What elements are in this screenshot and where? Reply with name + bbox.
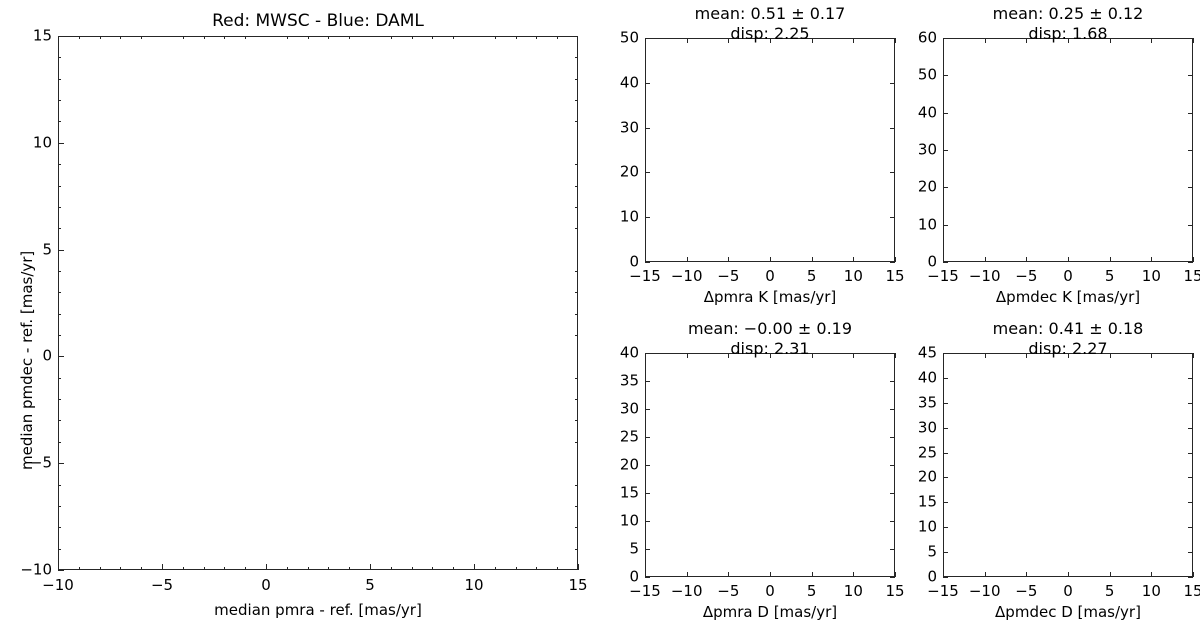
scatter-ytick-minor [575,79,578,80]
scatter-ytick-minor [575,399,578,400]
scatter-ytick-minor [575,186,578,187]
hist-xtick-label: −15 [927,584,959,599]
hist-ytick-right [890,217,895,218]
hist-ytick [943,150,948,151]
scatter-ytick-label: −10 [12,563,52,578]
hist-xtick-top [1068,353,1069,358]
scatter-xtick-minor [557,36,558,39]
scatter-ytick-minor [58,164,61,165]
hist-ytick [645,493,650,494]
hist-ytick-label: 20 [901,180,937,195]
hist-pmra-k-x-axis-label: Δpmra K [mas/yr] [645,288,895,306]
hist-xtick [895,257,896,262]
scatter-xtick-minor [495,36,496,39]
hist-ytick-right [1188,75,1193,76]
hist-pmra-d-panel [645,353,895,577]
scatter-xtick-minor [349,567,350,570]
hist-ytick-label: 50 [901,68,937,83]
hist-ytick [645,217,650,218]
hist-ytick-label: 35 [603,374,639,389]
scatter-xtick-minor [391,567,392,570]
hist-ytick [645,262,650,263]
scatter-xtick-minor [79,567,80,570]
hist-xtick [728,572,729,577]
scatter-xtick-minor [224,567,225,570]
scatter-ytick-minor [575,207,578,208]
scatter-ytick-minor [58,57,61,58]
hist-xtick-label: −5 [717,269,739,284]
hist-ytick [943,577,948,578]
scatter-ytick-minor [58,292,61,293]
hist-xtick [1110,572,1111,577]
hist-xtick-top [1193,38,1194,43]
hist-pmdec-d-axes-frame [943,353,1193,577]
scatter-xtick [578,564,579,570]
hist-ytick-label: 40 [901,105,937,120]
hist-xtick [985,572,986,577]
hist-xtick [1110,257,1111,262]
scatter-xtick [370,564,371,570]
hist-ytick [943,262,948,263]
hist-ytick-right [890,38,895,39]
hist-ytick-right [1188,353,1193,354]
hist-title-mean: mean: 0.41 ± 0.18 [993,319,1144,339]
hist-ytick [943,113,948,114]
hist-xtick-label: −10 [969,584,1001,599]
scatter-title: Red: MWSC - Blue: DAML [58,12,578,31]
hist-ytick-label: 40 [603,346,639,361]
hist-xtick-top [853,38,854,43]
scatter-xtick-minor [328,567,329,570]
hist-xtick-label: −15 [629,269,661,284]
hist-xtick [770,257,771,262]
hist-ytick [645,172,650,173]
scatter-ytick-minor [58,549,61,550]
hist-ytick [943,187,948,188]
scatter-xtick-minor [100,36,101,39]
hist-ytick [645,38,650,39]
hist-ytick-right [890,262,895,263]
hist-xtick [687,572,688,577]
hist-ytick [943,75,948,76]
hist-ytick-right [1188,225,1193,226]
hist-ytick-right [890,437,895,438]
hist-ytick-label: 30 [901,143,937,158]
scatter-ytick-minor [575,292,578,293]
scatter-ytick [58,36,64,37]
hist-ytick-label: 40 [603,75,639,90]
scatter-ytick-minor [575,378,578,379]
hist-xtick-label: 5 [807,269,817,284]
scatter-xtick-minor [141,567,142,570]
hist-xtick-label: 15 [885,269,904,284]
hist-ytick-right [890,172,895,173]
hist-ytick [943,38,948,39]
hist-xtick-top [728,38,729,43]
scatter-xtick-label: 15 [568,578,587,593]
hist-ytick [943,225,948,226]
scatter-panel [58,36,578,570]
figure-canvas: Red: MWSC - Blue: DAML median pmra - ref… [0,0,1200,629]
hist-ytick-right [890,353,895,354]
hist-xtick-label: −10 [671,269,703,284]
hist-xtick [812,257,813,262]
scatter-ytick [58,463,64,464]
scatter-xtick-minor [183,567,184,570]
hist-ytick [645,465,650,466]
hist-ytick-label: 40 [901,370,937,385]
hist-ytick-label: 0 [901,255,937,270]
hist-xtick [728,257,729,262]
hist-xtick-top [812,353,813,358]
scatter-ytick-minor [58,420,61,421]
hist-pmdec-k-panel [943,38,1193,262]
hist-xtick-label: 5 [1105,269,1115,284]
hist-ytick-right [1188,378,1193,379]
hist-ytick-right [1188,262,1193,263]
scatter-xtick-minor [536,567,537,570]
scatter-ytick-label: −5 [12,456,52,471]
scatter-xtick-minor [204,567,205,570]
scatter-xtick-minor [349,36,350,39]
scatter-xtick-label: 0 [261,578,271,593]
scatter-ytick-minor [58,186,61,187]
scatter-ytick-minor [575,228,578,229]
scatter-ytick-minor [575,442,578,443]
hist-title-mean: mean: 0.25 ± 0.12 [993,4,1144,24]
hist-xtick-label: −15 [927,269,959,284]
hist-xtick [985,257,986,262]
hist-ytick-label: 0 [603,255,639,270]
hist-xtick [853,572,854,577]
hist-xtick-label: 15 [1183,269,1200,284]
hist-ytick-label: 10 [603,514,639,529]
hist-ytick-right [1188,187,1193,188]
scatter-ytick-minor [58,378,61,379]
scatter-xtick [474,564,475,570]
scatter-ytick-minor [58,485,61,486]
hist-ytick-label: 30 [603,120,639,135]
hist-ytick [645,409,650,410]
hist-title-mean: mean: 0.51 ± 0.17 [695,4,846,24]
hist-xtick [812,572,813,577]
scatter-xtick-minor [516,567,517,570]
scatter-xtick-minor [120,36,121,39]
hist-pmra-k-panel [645,38,895,262]
hist-ytick [645,549,650,550]
scatter-ytick-label: 0 [12,349,52,364]
scatter-axes-frame [58,36,578,570]
scatter-ytick-label: 15 [12,29,52,44]
hist-ytick-right [1188,577,1193,578]
hist-pmra-k-axes-frame [645,38,895,262]
hist-xtick-label: −15 [629,584,661,599]
hist-ytick-label: 10 [901,520,937,535]
scatter-xtick-minor [100,567,101,570]
hist-ytick-label: 20 [603,165,639,180]
scatter-xtick-minor [516,36,517,39]
scatter-x-axis-label: median pmra - ref. [mas/yr] [58,601,578,619]
hist-ytick [645,381,650,382]
hist-ytick [645,128,650,129]
hist-xtick-top [985,353,986,358]
hist-xtick-top [812,38,813,43]
hist-ytick-right [890,549,895,550]
hist-xtick [1026,257,1027,262]
hist-ytick-label: 5 [603,542,639,557]
hist-xtick-top [1151,353,1152,358]
scatter-xtick [162,564,163,570]
hist-ytick-right [890,83,895,84]
scatter-ytick-minor [58,271,61,272]
hist-ytick-right [1188,453,1193,454]
scatter-xtick-minor [245,567,246,570]
hist-xtick-label: −5 [1015,584,1037,599]
hist-ytick [943,502,948,503]
hist-ytick [645,577,650,578]
scatter-ytick [58,143,64,144]
hist-xtick [770,572,771,577]
hist-xtick-top [1110,38,1111,43]
hist-xtick-label: 5 [807,584,817,599]
hist-ytick-label: 25 [603,430,639,445]
scatter-ytick-minor [575,485,578,486]
hist-xtick [1193,257,1194,262]
scatter-ytick-minor [575,420,578,421]
hist-ytick-right [1188,502,1193,503]
hist-ytick-right [890,493,895,494]
scatter-xtick-minor [453,36,454,39]
scatter-ytick-minor [575,527,578,528]
scatter-xtick-minor [432,567,433,570]
hist-ytick-right [1188,428,1193,429]
hist-xtick-label: 10 [1142,269,1161,284]
hist-xtick-top [1026,353,1027,358]
hist-xtick-label: 15 [1183,584,1200,599]
hist-xtick [1068,257,1069,262]
hist-ytick-label: 45 [901,346,937,361]
hist-xtick-top [895,38,896,43]
scatter-ytick-minor [58,100,61,101]
scatter-ytick-minor [58,506,61,507]
hist-ytick-label: 20 [603,458,639,473]
hist-pmra-d-x-axis-label: Δpmra D [mas/yr] [645,603,895,621]
hist-ytick [645,521,650,522]
hist-ytick-right [1188,477,1193,478]
scatter-xtick-minor [412,36,413,39]
hist-ytick-label: 5 [901,545,937,560]
scatter-ytick-minor [575,100,578,101]
scatter-ytick-minor [58,228,61,229]
hist-xtick [1151,257,1152,262]
hist-xtick-label: 0 [1063,269,1073,284]
hist-ytick [645,353,650,354]
hist-ytick-label: 60 [901,31,937,46]
hist-ytick [645,83,650,84]
hist-ytick [943,428,948,429]
hist-xtick-top [1110,353,1111,358]
hist-xtick-label: −5 [1015,269,1037,284]
hist-xtick-top [687,353,688,358]
scatter-xtick-minor [328,36,329,39]
hist-ytick-right [1188,403,1193,404]
scatter-ytick-minor [575,314,578,315]
hist-xtick-top [1193,353,1194,358]
scatter-ytick-minor [58,79,61,80]
hist-ytick [943,403,948,404]
scatter-xtick-minor [141,36,142,39]
hist-pmra-d-axes-frame [645,353,895,577]
scatter-xtick-minor [391,36,392,39]
scatter-ytick-minor [575,549,578,550]
hist-ytick [943,353,948,354]
hist-ytick-right [890,128,895,129]
hist-xtick [1151,572,1152,577]
scatter-xtick-minor [495,567,496,570]
scatter-xtick-minor [308,36,309,39]
hist-xtick-label: 0 [765,269,775,284]
scatter-xtick-label: 5 [365,578,375,593]
scatter-ytick [58,356,64,357]
hist-pmdec-k-x-axis-label: Δpmdec K [mas/yr] [943,288,1193,306]
hist-xtick-top [895,353,896,358]
hist-xtick [1193,572,1194,577]
hist-ytick-label: 10 [901,217,937,232]
scatter-ytick-minor [575,164,578,165]
hist-xtick [687,257,688,262]
hist-xtick-label: 10 [844,269,863,284]
hist-xtick-label: −10 [671,584,703,599]
hist-ytick-label: 25 [901,445,937,460]
scatter-xtick-minor [183,36,184,39]
hist-pmdec-k-axes-frame [943,38,1193,262]
scatter-xtick-minor [120,567,121,570]
scatter-xtick-minor [287,36,288,39]
hist-xtick-top [1151,38,1152,43]
scatter-ytick-minor [58,335,61,336]
hist-ytick-right [890,465,895,466]
scatter-xtick-minor [204,36,205,39]
scatter-xtick-minor [287,567,288,570]
scatter-xtick-label: 10 [464,578,483,593]
hist-ytick [943,477,948,478]
hist-ytick-right [1188,527,1193,528]
scatter-ytick-label: 10 [12,135,52,150]
scatter-xtick [266,564,267,570]
scatter-ytick-minor [575,506,578,507]
hist-ytick-label: 35 [901,395,937,410]
hist-ytick [645,437,650,438]
hist-ytick [943,378,948,379]
hist-xtick [1068,572,1069,577]
hist-xtick-label: 5 [1105,584,1115,599]
hist-ytick [943,527,948,528]
scatter-ytick [58,250,64,251]
hist-ytick-right [890,577,895,578]
scatter-ytick-minor [58,527,61,528]
hist-ytick-right [1188,113,1193,114]
hist-xtick-top [687,38,688,43]
scatter-xtick-minor [224,36,225,39]
hist-title-mean: mean: −0.00 ± 0.19 [688,319,852,339]
scatter-ytick-minor [575,121,578,122]
scatter-xtick-minor [245,36,246,39]
scatter-xtick-label: −10 [42,578,74,593]
hist-ytick-label: 15 [603,486,639,501]
hist-ytick-right [890,409,895,410]
scatter-ytick-minor [575,335,578,336]
hist-pmdec-d-x-axis-label: Δpmdec D [mas/yr] [943,603,1193,621]
hist-xtick [853,257,854,262]
hist-ytick-label: 30 [603,402,639,417]
hist-ytick-right [1188,552,1193,553]
scatter-ytick-minor [575,57,578,58]
hist-ytick [943,453,948,454]
hist-xtick-label: 15 [885,584,904,599]
scatter-xtick-minor [79,36,80,39]
hist-ytick-label: 20 [901,470,937,485]
scatter-xtick-minor [308,567,309,570]
scatter-ytick-minor [58,399,61,400]
hist-xtick-top [770,38,771,43]
hist-xtick-top [728,353,729,358]
hist-ytick-label: 50 [603,31,639,46]
scatter-xtick-minor [453,567,454,570]
hist-xtick-label: −10 [969,269,1001,284]
scatter-ytick [58,570,64,571]
hist-xtick-label: 10 [1142,584,1161,599]
hist-ytick-right [1188,150,1193,151]
scatter-ytick-minor [575,271,578,272]
scatter-xtick-minor [432,36,433,39]
hist-ytick-right [890,521,895,522]
hist-ytick-label: 0 [603,570,639,585]
scatter-xtick-minor [536,36,537,39]
scatter-ytick-label: 5 [12,242,52,257]
hist-xtick-top [853,353,854,358]
hist-xtick-label: −5 [717,584,739,599]
hist-ytick-right [1188,38,1193,39]
hist-xtick-label: 0 [765,584,775,599]
hist-xtick-top [770,353,771,358]
hist-xtick-top [985,38,986,43]
hist-xtick [895,572,896,577]
scatter-ytick-minor [58,442,61,443]
hist-pmdec-d-panel [943,353,1193,577]
hist-ytick-label: 30 [901,420,937,435]
hist-xtick-label: 0 [1063,584,1073,599]
hist-xtick [1026,572,1027,577]
scatter-xtick-minor [412,567,413,570]
scatter-xtick-minor [557,567,558,570]
hist-ytick-label: 0 [901,570,937,585]
hist-xtick-top [1026,38,1027,43]
scatter-ytick-minor [58,314,61,315]
scatter-xtick-label: −5 [151,578,173,593]
hist-ytick-label: 15 [901,495,937,510]
hist-xtick-top [1068,38,1069,43]
hist-xtick-label: 10 [844,584,863,599]
hist-ytick-right [890,381,895,382]
scatter-ytick-minor [58,207,61,208]
scatter-ytick-minor [58,121,61,122]
hist-ytick [943,552,948,553]
hist-ytick-label: 10 [603,210,639,225]
